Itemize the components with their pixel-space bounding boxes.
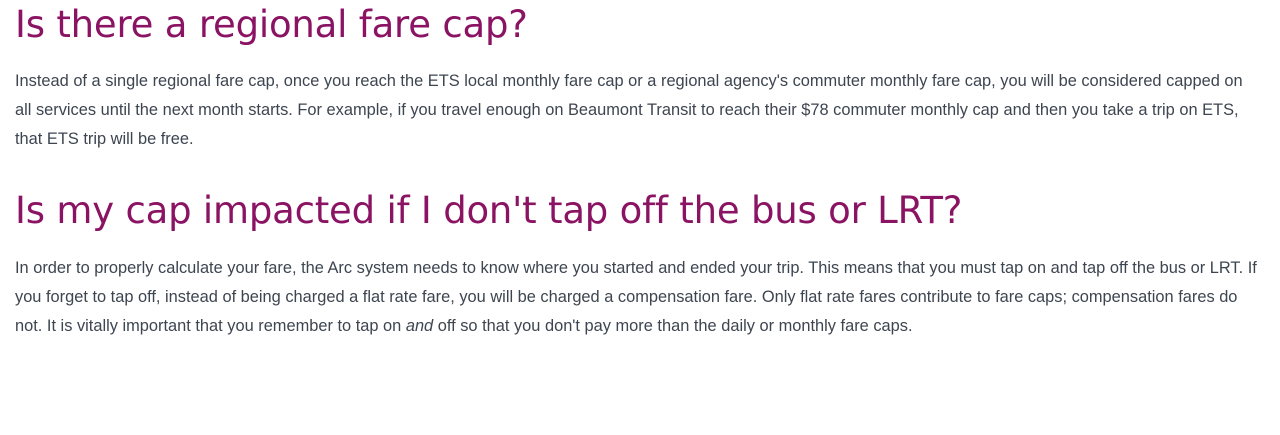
- faq-answer-text-continued: off so that you don't pay more than the …: [433, 317, 912, 335]
- faq-answer-emphasis: and: [406, 317, 433, 335]
- faq-answer-paragraph: Instead of a single regional fare cap, o…: [15, 67, 1262, 154]
- faq-answer-paragraph: In order to properly calculate your fare…: [15, 254, 1262, 341]
- faq-section-regional-fare-cap: Is there a regional fare cap? Instead of…: [0, 2, 1280, 154]
- faq-question-heading: Is my cap impacted if I don't tap off th…: [15, 188, 1262, 234]
- faq-section-tap-off: Is my cap impacted if I don't tap off th…: [0, 188, 1280, 341]
- faq-answer-text: Instead of a single regional fare cap, o…: [15, 72, 1243, 148]
- faq-page: Is there a regional fare cap? Instead of…: [0, 2, 1280, 341]
- faq-question-heading: Is there a regional fare cap?: [15, 2, 1262, 48]
